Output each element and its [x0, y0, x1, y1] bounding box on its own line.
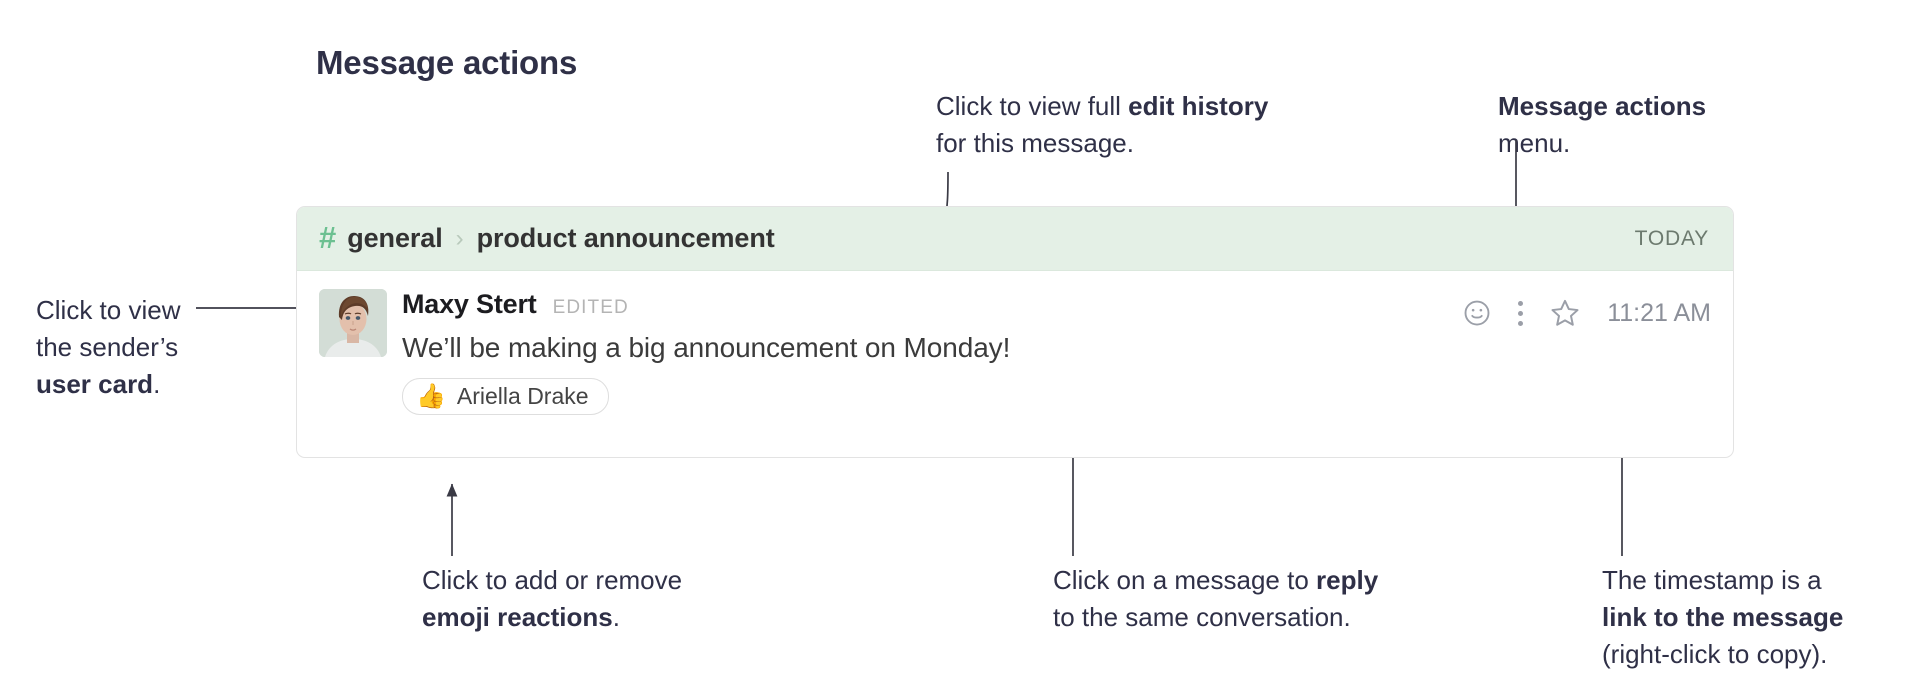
timestamp-callout: The timestamp is a link to the message (… — [1602, 562, 1843, 673]
emoji-reactions-callout: Click to add or remove emoji reactions. — [422, 562, 682, 636]
vertical-dots-icon[interactable] — [1518, 301, 1523, 326]
message-timestamp[interactable]: 11:21 AM — [1607, 299, 1711, 328]
page-title: Message actions — [316, 44, 577, 82]
callout-emphasis: Message actions — [1498, 91, 1706, 121]
callout-line: Click to view full edit history — [936, 88, 1268, 125]
callout-line: link to the message — [1602, 599, 1843, 636]
edited-badge[interactable]: EDITED — [553, 297, 629, 319]
callout-emphasis: edit history — [1128, 91, 1268, 121]
callout-text: Click on a message to — [1053, 565, 1316, 595]
message-body[interactable]: We’ll be making a big announcement on Mo… — [402, 332, 1709, 364]
reaction-row: 👍 Ariella Drake — [402, 378, 1709, 415]
callout-line: the sender’s — [36, 329, 180, 366]
callout-text: . — [153, 369, 160, 399]
stream-name[interactable]: general — [347, 223, 442, 254]
callout-text: Click to view full — [936, 91, 1128, 121]
dot — [1518, 311, 1523, 316]
callout-line: to the same conversation. — [1053, 599, 1378, 636]
edit-history-callout: Click to view full edit history for this… — [936, 88, 1268, 162]
callout-line: Click to view — [36, 292, 180, 329]
dot — [1518, 321, 1523, 326]
callout-line: Click on a message to reply — [1053, 562, 1378, 599]
callout-line: menu. — [1498, 125, 1706, 162]
actions-menu-callout: Message actions menu. — [1498, 88, 1706, 162]
message-card: # general › product announcement TODAY — [296, 206, 1734, 458]
topic-name[interactable]: product announcement — [477, 223, 775, 254]
reaction-user-name: Ariella Drake — [457, 383, 589, 410]
message-row[interactable]: Maxy Stert EDITED We’ll be making a big … — [297, 271, 1733, 415]
callout-line: The timestamp is a — [1602, 562, 1843, 599]
callout-emphasis: user card — [36, 369, 153, 399]
callout-line: for this message. — [936, 125, 1268, 162]
reply-callout: Click on a message to reply to the same … — [1053, 562, 1378, 636]
message-actions-toolbar: 11:21 AM — [1462, 297, 1711, 329]
dot — [1518, 301, 1523, 306]
star-outline-icon[interactable] — [1549, 297, 1581, 329]
date-label[interactable]: TODAY — [1635, 227, 1709, 251]
hash-icon[interactable]: # — [319, 222, 336, 253]
callout-emphasis: reply — [1316, 565, 1378, 595]
callout-text: . — [613, 602, 620, 632]
avatar-image — [319, 289, 387, 357]
reaction-pill[interactable]: 👍 Ariella Drake — [402, 378, 609, 415]
thumbs-up-emoji: 👍 — [416, 385, 446, 409]
smiley-glyph — [1462, 298, 1492, 328]
callout-line: Message actions — [1498, 88, 1706, 125]
callout-line: user card. — [36, 366, 180, 403]
user-card-callout: Click to view the sender’s user card. — [36, 292, 180, 403]
chevron-right-icon: › — [456, 227, 464, 251]
sender-name[interactable]: Maxy Stert — [402, 289, 537, 320]
emoji-smiley-icon[interactable] — [1462, 298, 1492, 328]
callout-line: emoji reactions. — [422, 599, 682, 636]
callout-emphasis: emoji reactions — [422, 602, 613, 632]
callout-line: Click to add or remove — [422, 562, 682, 599]
callout-emphasis: link to the message — [1602, 602, 1843, 632]
stream-topic-header: # general › product announcement TODAY — [297, 207, 1733, 271]
avatar[interactable] — [319, 289, 387, 357]
callout-line: (right-click to copy). — [1602, 636, 1843, 673]
star-glyph — [1549, 297, 1581, 329]
